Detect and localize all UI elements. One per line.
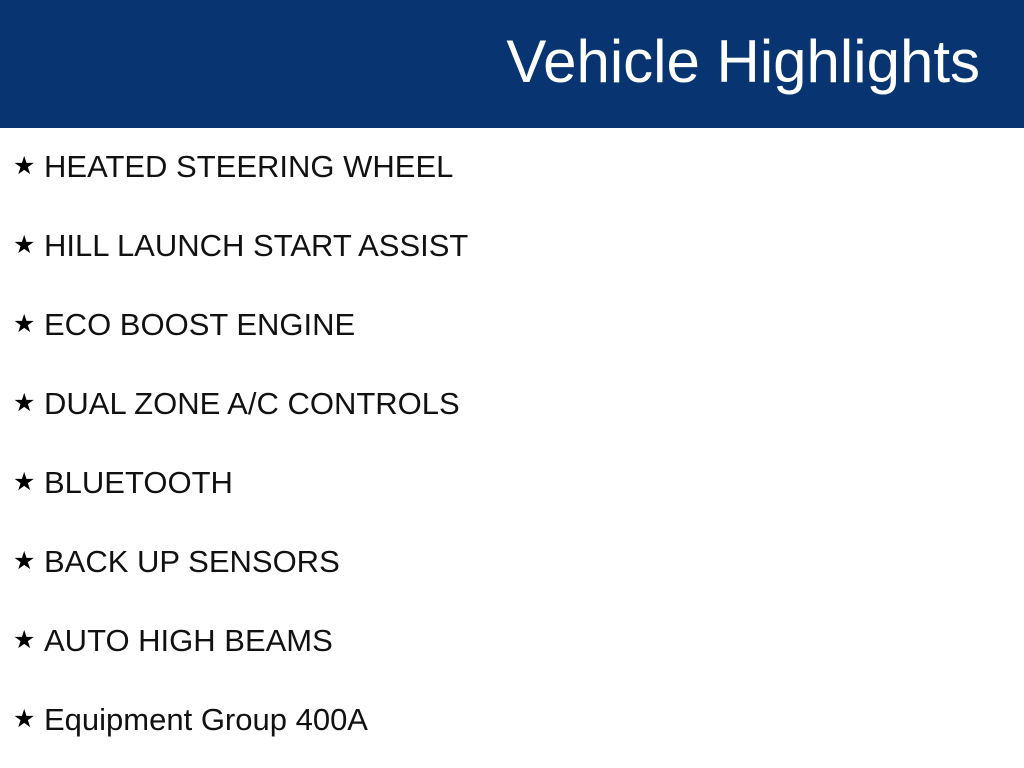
star-icon: ★ (13, 233, 44, 258)
list-item: ★ Equipment Group 400A (0, 681, 1024, 760)
vehicle-highlights-list: ★ HEATED STEERING WHEEL ★ HILL LAUNCH ST… (0, 128, 1024, 768)
highlight-label: HILL LAUNCH START ASSIST (44, 229, 468, 263)
highlight-label: BACK UP SENSORS (44, 545, 340, 579)
header-banner: Vehicle Highlights (0, 0, 1024, 128)
star-icon: ★ (13, 154, 44, 179)
highlight-label: BLUETOOTH (44, 466, 233, 500)
highlight-label: AUTO HIGH BEAMS (44, 624, 333, 658)
list-item: ★ DUAL ZONE A/C CONTROLS (0, 365, 1024, 444)
vehicle-highlights-slide: Vehicle Highlights ★ HEATED STEERING WHE… (0, 0, 1024, 768)
highlight-label: DUAL ZONE A/C CONTROLS (44, 387, 460, 421)
list-item: ★ BLUETOOTH (0, 444, 1024, 523)
highlight-label: ECO BOOST ENGINE (44, 308, 355, 342)
star-icon: ★ (13, 628, 44, 653)
list-item: ★ AUTO HIGH BEAMS (0, 602, 1024, 681)
highlight-label: Equipment Group 400A (44, 703, 368, 737)
list-item: ★ HEATED STEERING WHEEL (0, 128, 1024, 207)
star-icon: ★ (13, 707, 44, 732)
list-item: ★ HILL LAUNCH START ASSIST (0, 207, 1024, 286)
page-title: Vehicle Highlights (506, 32, 980, 92)
star-icon: ★ (13, 391, 44, 416)
star-icon: ★ (13, 470, 44, 495)
star-icon: ★ (13, 312, 44, 337)
list-item: ★ BACK UP SENSORS (0, 523, 1024, 602)
star-icon: ★ (13, 549, 44, 574)
highlight-label: HEATED STEERING WHEEL (44, 150, 453, 184)
list-item: ★ ECO BOOST ENGINE (0, 286, 1024, 365)
